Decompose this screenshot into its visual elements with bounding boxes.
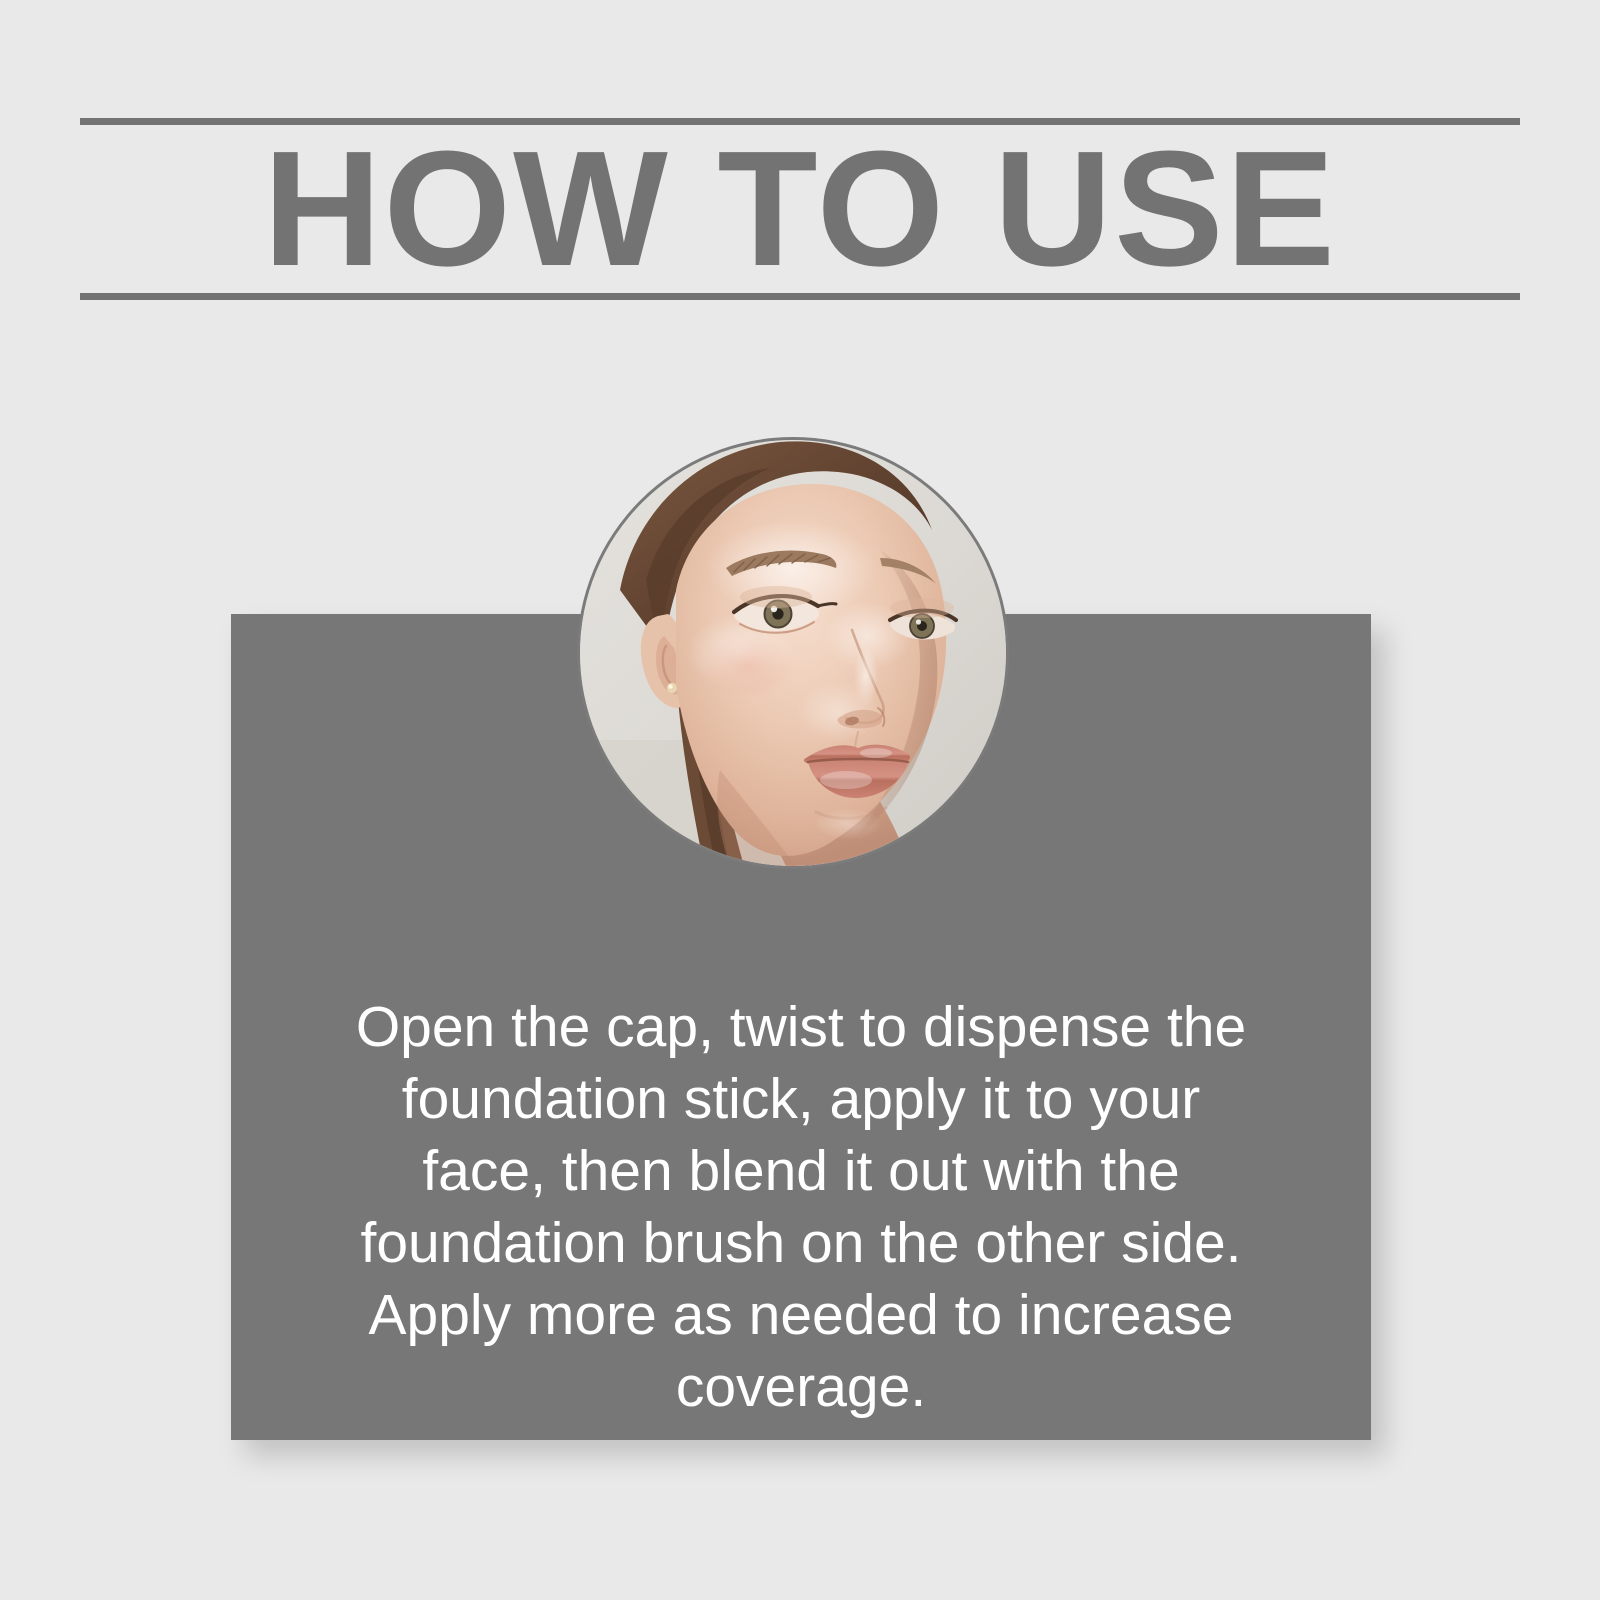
page-title: HOW TO USE bbox=[80, 118, 1520, 300]
instruction-text: Open the cap, twist to dispense the foun… bbox=[351, 991, 1251, 1423]
poster-canvas: HOW TO USE Open the cap, twist to dispen… bbox=[0, 0, 1600, 1600]
header: HOW TO USE bbox=[80, 112, 1520, 306]
header-rule-bottom bbox=[80, 293, 1520, 300]
portrait-avatar bbox=[580, 440, 1006, 866]
portrait-image bbox=[580, 440, 1006, 866]
